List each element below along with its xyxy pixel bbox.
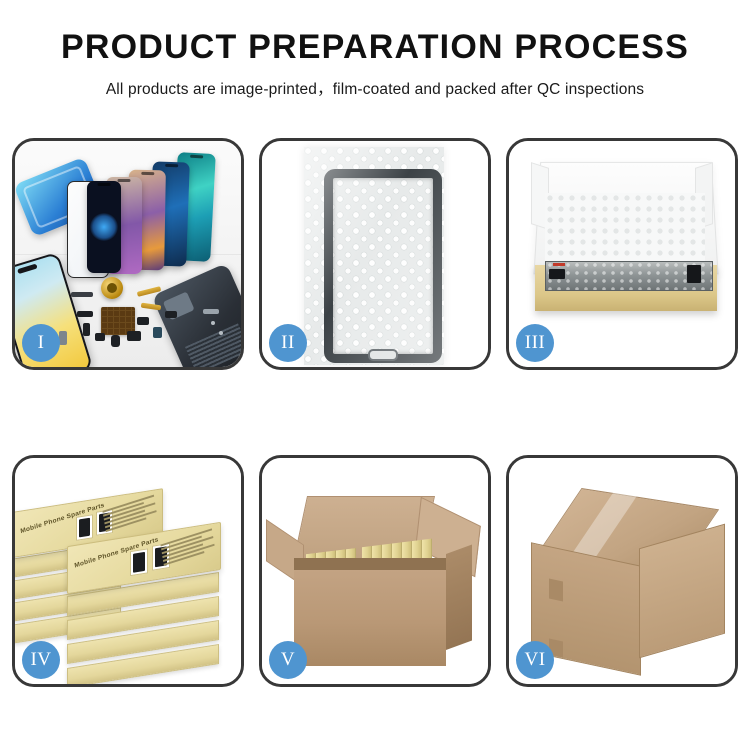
page-subtitle: All products are image-printed，film-coat… xyxy=(0,77,750,99)
speaker-coil-part xyxy=(101,277,123,299)
panel-phone-parts: I xyxy=(12,138,244,370)
step-badge: I xyxy=(22,324,60,362)
screen-connector xyxy=(549,269,565,279)
box-window-graphic xyxy=(130,548,148,576)
step-badge: IV xyxy=(22,641,60,679)
bubble-wrap-sheet xyxy=(304,147,444,365)
foam-padding xyxy=(545,193,705,263)
screw-part xyxy=(219,331,223,335)
step-badge: II xyxy=(269,324,307,362)
step-badge: VI xyxy=(516,641,554,679)
header: PRODUCT PREPARATION PROCESS All products… xyxy=(0,0,750,99)
earpiece-part xyxy=(71,292,93,297)
sim-tray-part xyxy=(59,331,67,345)
panel-1-image: I xyxy=(15,141,241,367)
screen-connector xyxy=(687,265,701,283)
chip-part xyxy=(137,317,149,325)
chip-part xyxy=(77,311,93,317)
panel-bubble-wrapped-screen: II xyxy=(259,138,491,370)
panel-stacked-retail-boxes: Mobile Phone Spare Parts Mobile Phone Sp… xyxy=(12,455,244,687)
box-spec-lines xyxy=(160,528,215,567)
chip-part xyxy=(95,333,105,341)
phone-screen-dark xyxy=(87,181,121,273)
box-spec-lines xyxy=(102,495,157,534)
plastic-sheen xyxy=(304,147,444,365)
chip-part xyxy=(83,323,90,336)
carton-side xyxy=(446,545,472,650)
red-marker xyxy=(553,263,565,266)
box-window-graphic xyxy=(76,514,93,541)
panel-open-carton: V xyxy=(259,455,491,687)
panel-5-image: V xyxy=(262,458,488,684)
chip-part xyxy=(153,327,162,338)
screw-part xyxy=(211,321,215,325)
panel-2-image: II xyxy=(262,141,488,367)
infographic-page: PRODUCT PREPARATION PROCESS All products… xyxy=(0,0,750,750)
process-step-grid: I II xyxy=(12,138,738,687)
screw-part xyxy=(203,309,219,314)
page-title: PRODUCT PREPARATION PROCESS xyxy=(0,30,750,66)
step-badge: III xyxy=(516,324,554,362)
phone-screen-fan xyxy=(87,153,237,278)
carton-front xyxy=(294,570,446,666)
chip-part xyxy=(111,335,120,347)
step-badge: V xyxy=(269,641,307,679)
panel-4-image: Mobile Phone Spare Parts Mobile Phone Sp… xyxy=(15,458,241,684)
panel-boxed-screen: III xyxy=(506,138,738,370)
chip-part xyxy=(127,331,141,341)
panel-6-image: VI xyxy=(509,458,735,684)
panel-sealed-carton: VI xyxy=(506,455,738,687)
carton-fold-mark xyxy=(549,579,563,602)
chip-part xyxy=(165,311,177,318)
panel-3-image: III xyxy=(509,141,735,367)
